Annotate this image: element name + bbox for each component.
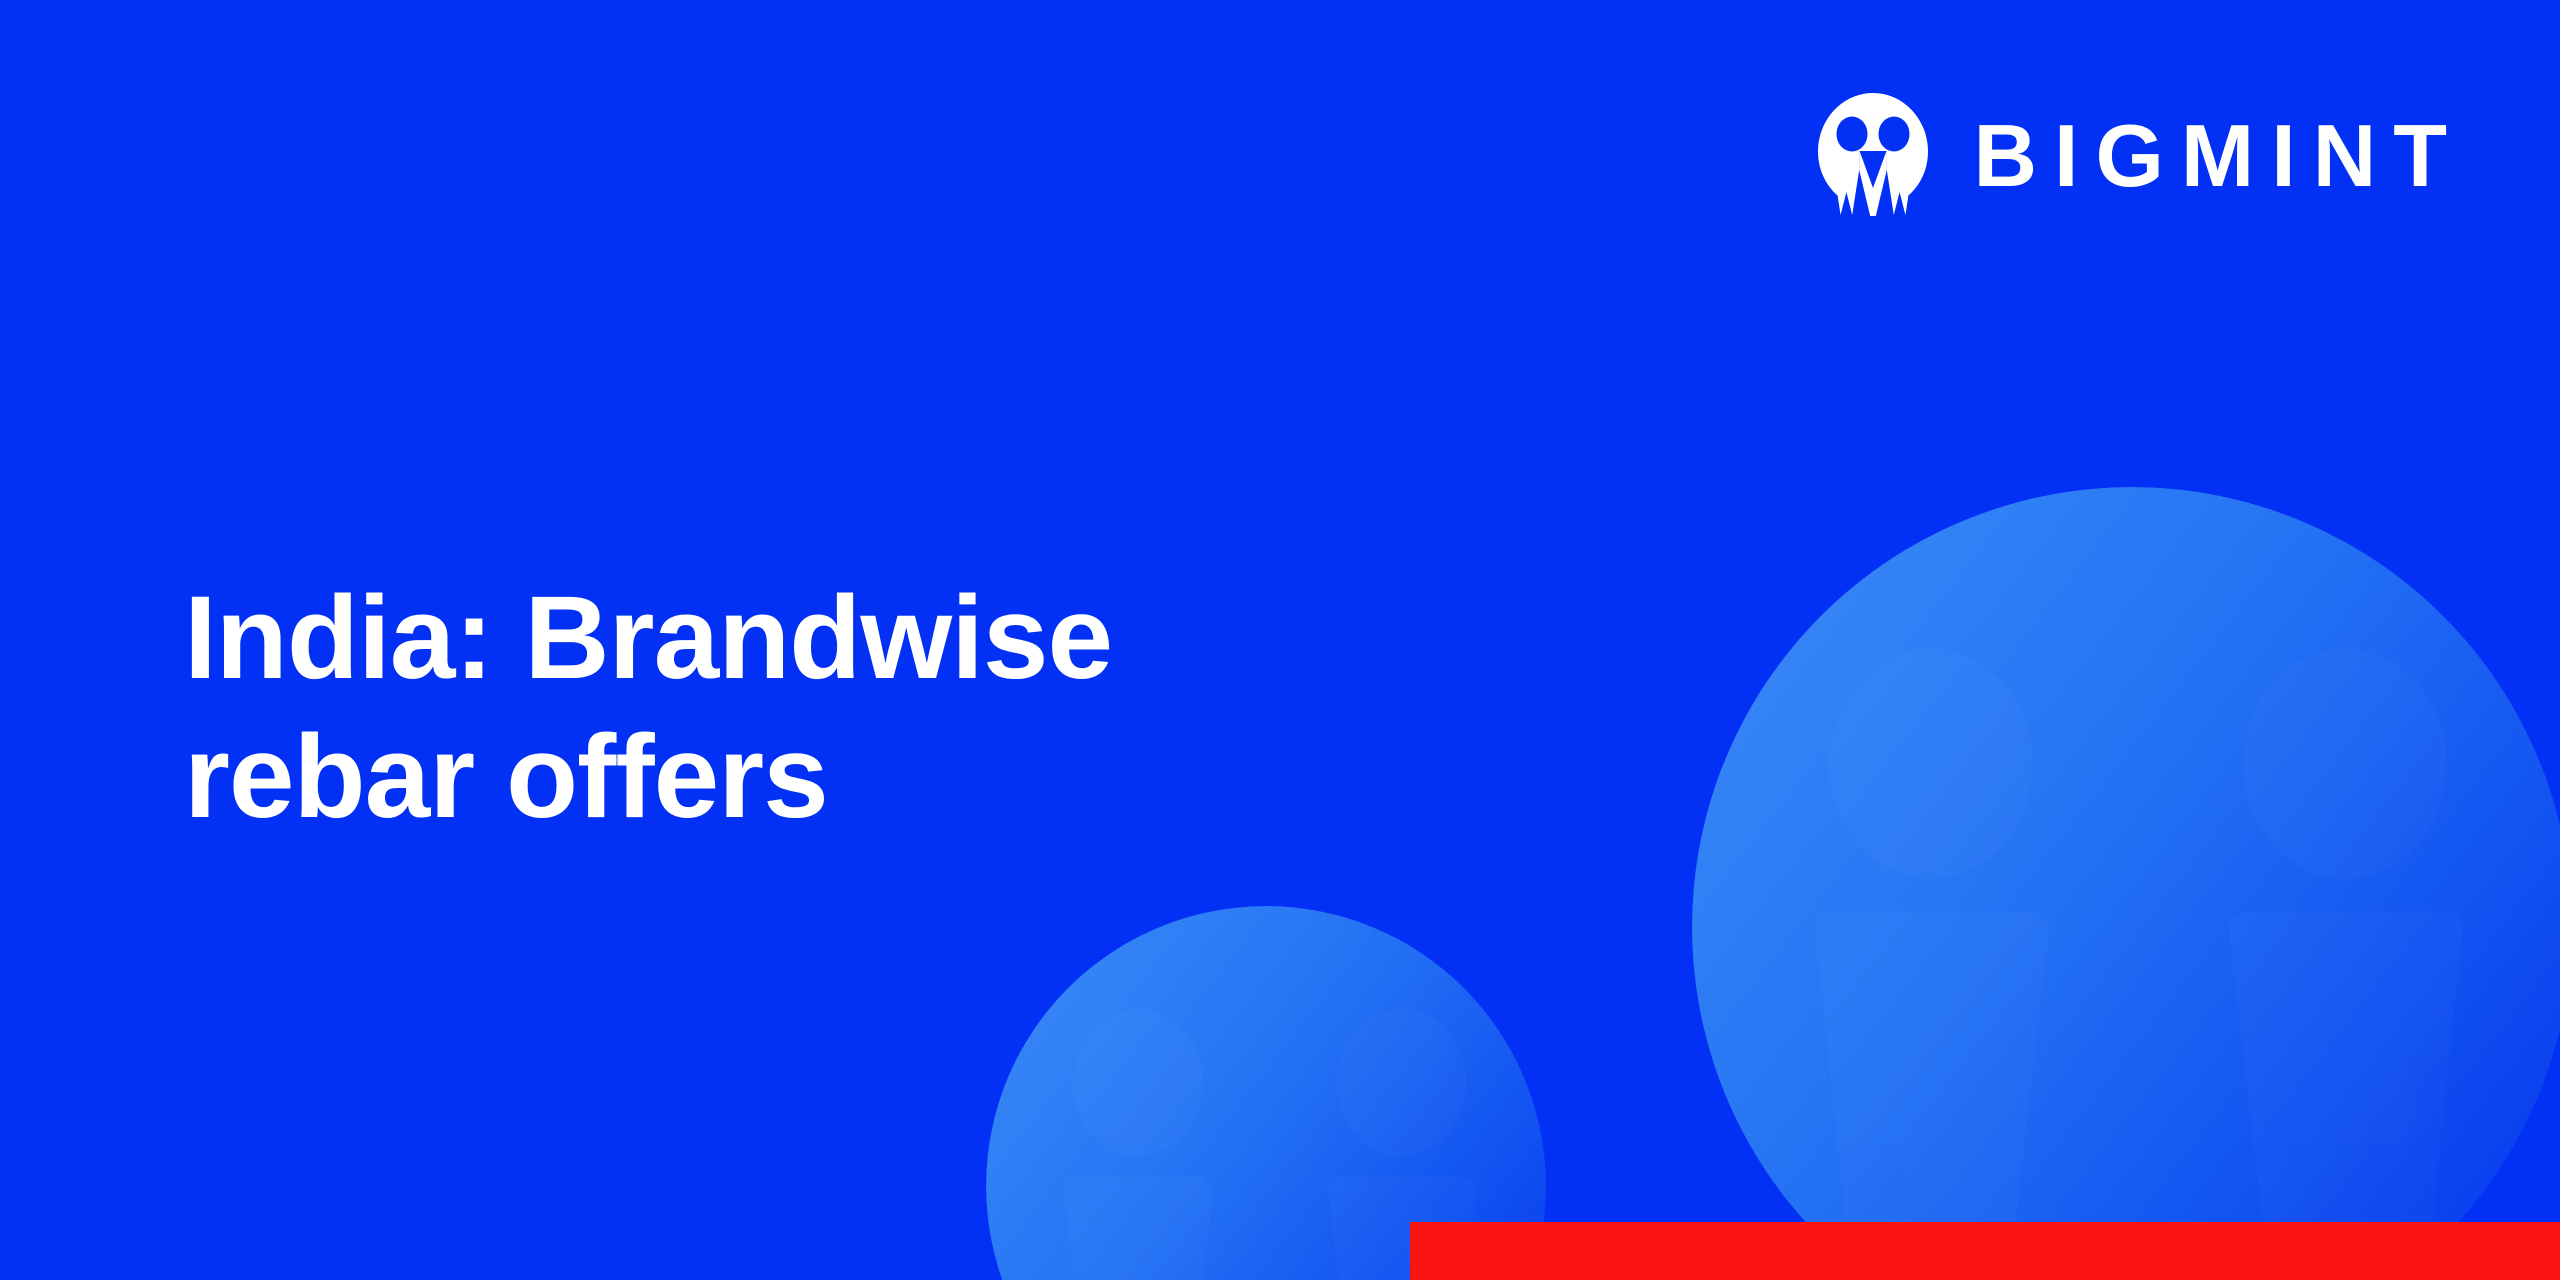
decorative-bubble-large: [1692, 487, 2560, 1280]
bigmint-people-watermark-icon: [1692, 487, 2560, 1280]
page-title-line-2: rebar offers: [184, 708, 1334, 847]
brand-lockup[interactable]: BIGMINT: [1817, 92, 2464, 216]
watermark-head-left-icon: [1073, 1009, 1203, 1156]
brand-wordmark: BIGMINT: [1973, 108, 2464, 200]
watermark-head-right-icon: [1337, 1009, 1467, 1156]
watermark-head-left-icon: [1829, 649, 2033, 880]
page-title: India: Brandwise rebar offers: [184, 569, 1334, 847]
slide-canvas: BIGMINT India: Brandwise rebar offers: [0, 0, 2560, 1280]
accent-bar: [1410, 1222, 2560, 1280]
watermark-head-right-icon: [2243, 649, 2447, 880]
watermark-body-left-icon: [1063, 1176, 1214, 1280]
page-title-line-1: India: Brandwise: [184, 569, 1334, 708]
bigmint-people-mark-icon: [1817, 92, 1929, 216]
